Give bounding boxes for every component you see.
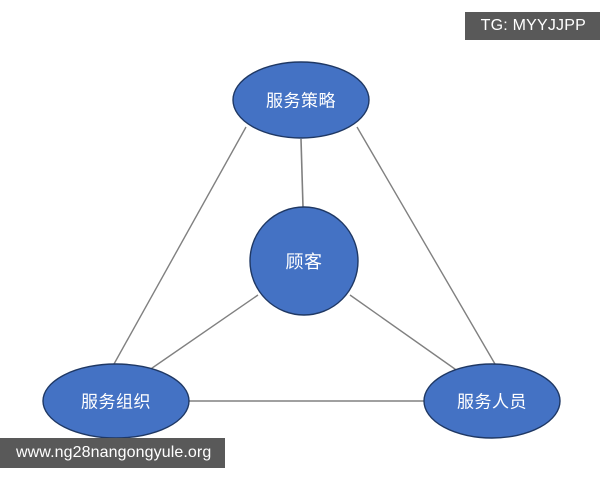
node-label-customer: 顾客 [286,252,323,272]
watermark-text-url: www.ng28nangongyule.org [16,444,211,462]
watermark-badge-top-right: TG: MYYJJPP [465,12,600,40]
watermark-badge-bottom-left: www.ng28nangongyule.org [0,438,225,468]
node-label-service-personnel: 服务人员 [457,393,527,412]
node-label-service-organization: 服务组织 [81,393,151,412]
connector-strategy-customer [301,139,303,207]
watermark-text-tg: TG: MYYJJPP [481,17,586,35]
connector-strategy-personnel [357,127,495,364]
connector-customer-personnel [350,295,462,374]
diagram-canvas: 服务策略 顾客 服务组织 服务人员 TG: MYYJJPP www.ng28na… [0,0,600,480]
node-service-personnel[interactable]: 服务人员 [424,364,560,438]
node-label-service-strategy: 服务策略 [266,92,336,111]
node-service-strategy[interactable]: 服务策略 [233,62,369,138]
connector-strategy-organization [114,127,246,364]
service-triangle-diagram: 服务策略 顾客 服务组织 服务人员 [0,0,600,480]
node-service-organization[interactable]: 服务组织 [43,364,189,438]
connector-customer-organization [142,295,258,375]
node-customer[interactable]: 顾客 [250,207,358,315]
